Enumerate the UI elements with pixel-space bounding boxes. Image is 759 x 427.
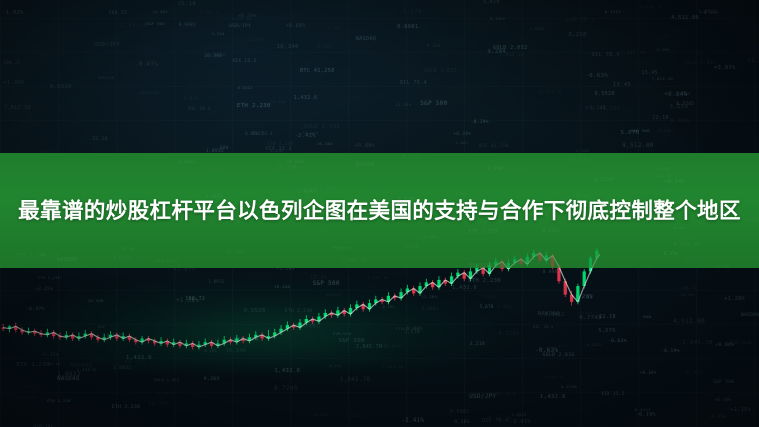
- headline-banner: -1.02%9,20413.45+0.88%0.7745GOLD 2,0325,…: [0, 153, 759, 268]
- banner-headline: 最靠谱的炒股杠杆平台以色列企图在美国的支持与合作下彻底控制整个地区: [6, 194, 754, 228]
- promo-banner-image: -1.02%9,20413.45+0.88%0.7745GOLD 2,0325,…: [0, 0, 759, 427]
